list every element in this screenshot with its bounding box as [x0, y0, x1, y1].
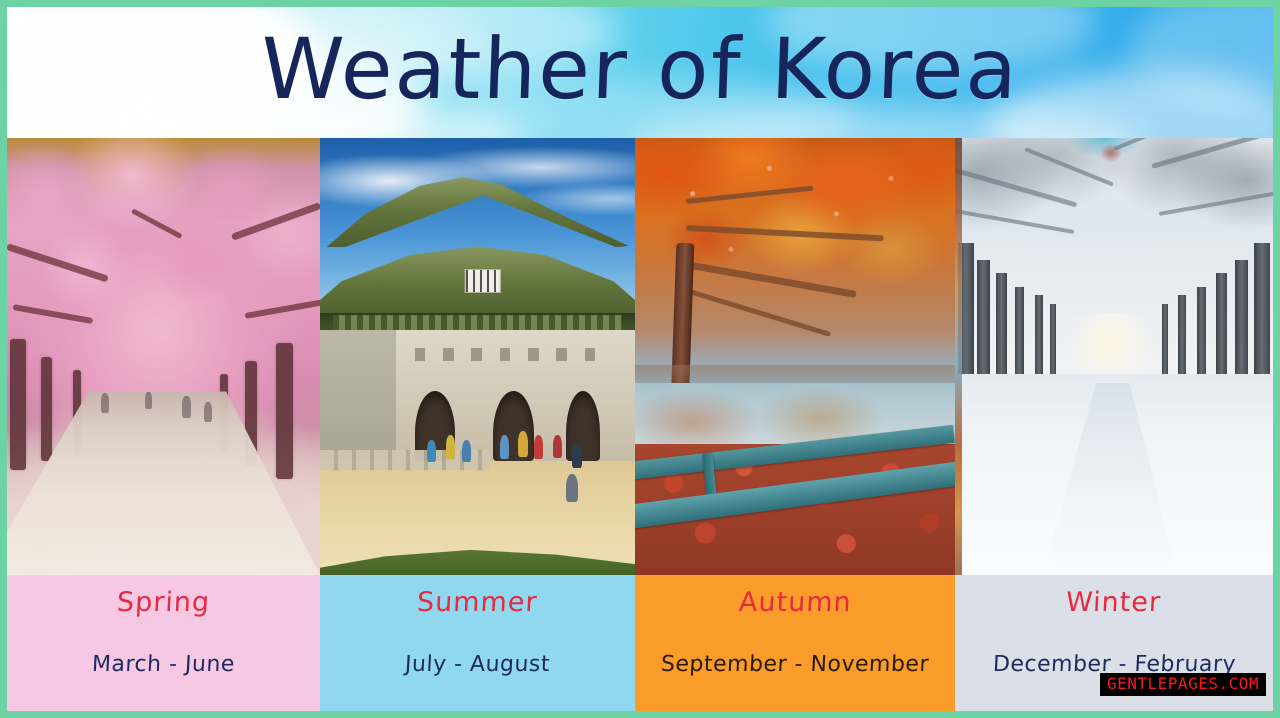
summer-visitor: [446, 435, 455, 459]
season-months-autumn: September - November: [660, 652, 929, 677]
winter-caption: Winter December - February: [955, 575, 1273, 718]
season-name-autumn: Autumn: [738, 589, 852, 616]
summer-wall-merlon: [528, 348, 539, 361]
site-watermark: GENTLEPAGES.COM: [1100, 673, 1266, 696]
summer-gate-plaque: [464, 269, 501, 293]
summer-wall-merlon: [471, 348, 482, 361]
season-months-summer: July - August: [404, 652, 550, 677]
spring-photo-cherry-blossom-tunnel: [7, 138, 320, 575]
summer-visitor: [553, 435, 562, 458]
summer-visitor: [518, 431, 528, 457]
spring-tree-trunk: [276, 343, 293, 478]
winter-photo-left-edge-artifact: [955, 138, 962, 575]
summer-clouds: [320, 147, 635, 261]
summer-visitor: [572, 444, 582, 468]
summer-gate-wall-shadow: [320, 330, 396, 461]
summer-wall-merlon: [556, 348, 567, 361]
season-name-spring: Spring: [116, 589, 211, 616]
summer-visitor: [534, 435, 543, 459]
season-name-winter: Winter: [1066, 589, 1162, 616]
spring-caption: Spring March - June: [7, 575, 320, 718]
summer-visitor: [566, 474, 578, 502]
season-months-spring: March - June: [91, 652, 235, 677]
spring-tree-trunk: [41, 357, 52, 462]
autumn-photo-maple-lake-bench: [635, 138, 955, 575]
spring-figure: [204, 402, 212, 422]
season-panel-autumn: Autumn September - November: [635, 138, 955, 718]
summer-photo-gwanghwamun-gate: [320, 138, 635, 575]
spring-tree-trunk: [10, 339, 26, 470]
winter-tree-trunk: [1050, 304, 1056, 383]
winter-tree-trunk: [1162, 304, 1168, 383]
summer-wall-merlon: [585, 348, 596, 361]
season-panel-spring: Spring March - June: [7, 138, 320, 718]
spring-figure: [145, 392, 152, 409]
season-panel-summer: Summer July - August: [320, 138, 635, 718]
winter-photo-snowy-tree-tunnel: [955, 138, 1273, 575]
page-title: Weather of Korea: [7, 7, 1273, 134]
spring-figure: [101, 393, 109, 413]
summer-wall-merlon: [443, 348, 454, 361]
summer-visitor: [500, 435, 509, 459]
season-name-summer: Summer: [416, 589, 538, 616]
weather-of-korea-poster: Weather of Korea: [0, 0, 1280, 718]
summer-wall-merlon: [415, 348, 426, 361]
spring-blossom-canopy: [7, 138, 320, 409]
poster-header-sky: Weather of Korea: [7, 7, 1273, 138]
season-panel-grid: Spring March - June: [7, 138, 1273, 718]
summer-caption: Summer July - August: [320, 575, 635, 718]
season-panel-winter: Winter December - February: [955, 138, 1273, 718]
summer-visitor: [462, 440, 471, 462]
spring-blossom-path: [7, 391, 320, 575]
summer-visitor: [427, 440, 436, 462]
autumn-caption: Autumn September - November: [635, 575, 955, 718]
spring-figure: [182, 396, 191, 418]
summer-wall-merlon: [500, 348, 511, 361]
